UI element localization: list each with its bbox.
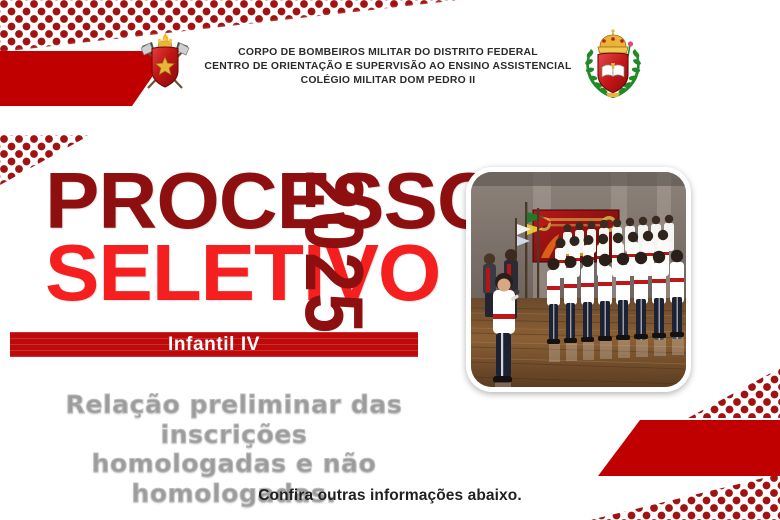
colegio-militar-dom-pedro-ii-crest-icon bbox=[578, 27, 648, 108]
cbmdf-crest-icon bbox=[132, 30, 198, 105]
main-title-block: PROCESSO SELETIVO 2025 bbox=[45, 168, 445, 318]
header: CORPO DE BOMBEIROS MILITAR DO DISTRITO F… bbox=[0, 26, 780, 108]
title-line-seletivo: SELETIVO bbox=[45, 240, 440, 306]
header-line-2: CENTRO DE ORIENTAÇÃO E SUPERVISÃO AO ENS… bbox=[204, 60, 571, 74]
title-year-2025: 2025 bbox=[292, 170, 375, 334]
photo-frame bbox=[466, 167, 691, 392]
level-banner-label: Infantil IV bbox=[168, 334, 260, 356]
level-banner: Infantil IV bbox=[10, 332, 418, 357]
header-line-3: COLÉGIO MILITAR DOM PEDRO II bbox=[204, 74, 571, 88]
bottom-note: Confira outras informações abaixo. bbox=[0, 487, 780, 505]
header-line-1: CORPO DE BOMBEIROS MILITAR DO DISTRITO F… bbox=[204, 46, 571, 60]
photo-ceremony bbox=[471, 172, 686, 387]
header-title-block: CORPO DE BOMBEIROS MILITAR DO DISTRITO F… bbox=[204, 46, 571, 87]
title-line-processo: PROCESSO bbox=[45, 168, 499, 234]
red-band-bottom-right bbox=[598, 420, 780, 476]
poster-canvas: CORPO DE BOMBEIROS MILITAR DO DISTRITO F… bbox=[0, 0, 780, 520]
dot-pattern-right-middle bbox=[688, 368, 780, 418]
subtitle-line-1: Relação preliminar das inscrições bbox=[8, 390, 460, 449]
